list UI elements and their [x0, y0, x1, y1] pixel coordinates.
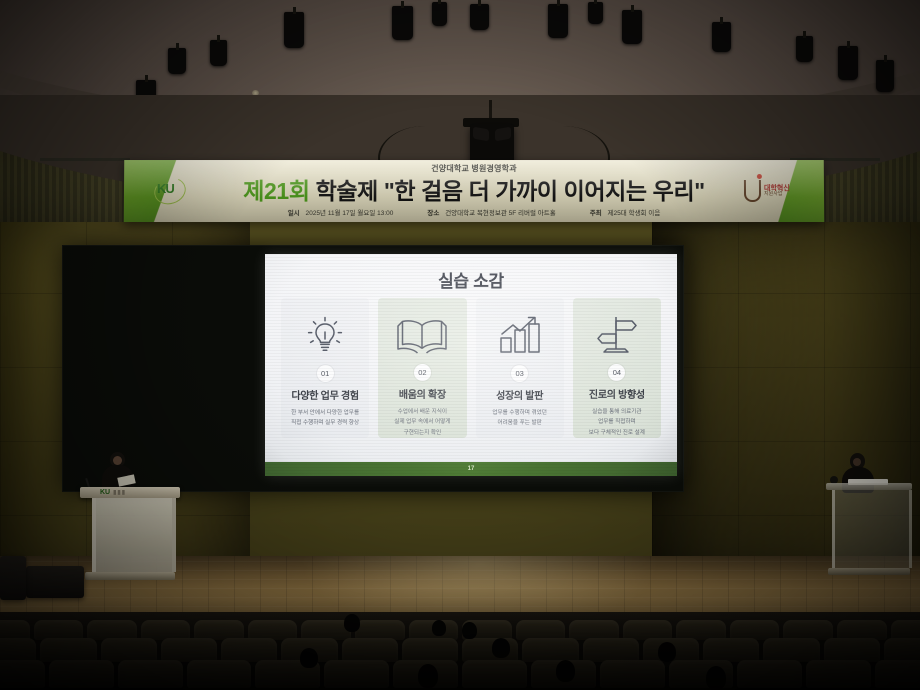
- card-heading: 배움의 확장: [399, 386, 446, 401]
- open-book-icon: [396, 306, 448, 363]
- audience-seating: [0, 612, 920, 690]
- card-heading: 성장의 발판: [496, 387, 543, 402]
- card-body: 수업에서 배운 지식이 실제 업무 속에서 어떻게 구현되는지 확인: [389, 407, 455, 438]
- card-body: 업무를 수행하며 겪었던 어려움을 푸는 발판: [487, 408, 552, 429]
- projection-screen: 실습 소감 01: [62, 245, 684, 492]
- floor-monitor-right: [0, 556, 26, 600]
- card-number: 04: [608, 364, 625, 381]
- card-body: 한 부서 안에서 다양한 업무를 직접 수행하며 실무 경력 향상: [286, 408, 364, 429]
- auditorium-scene: KU 건양대학교 병원경영학과 제21회 학술제 "한 걸음 더 가까이 이어지…: [0, 0, 920, 690]
- stage-light: [548, 4, 568, 38]
- stage-light: [838, 46, 858, 80]
- card-heading: 진로의 방향성: [589, 386, 645, 401]
- podium-top: KU▮▮▮: [80, 487, 180, 498]
- slide-footer: 17: [265, 462, 677, 476]
- card-number: 03: [511, 365, 528, 382]
- card-heading: 다양한 업무 경험: [291, 387, 358, 402]
- floor-monitor-left: [26, 566, 84, 598]
- slide-card: 03 성장의 발판 업무를 수행하며 겪었던 어려움을 푸는 발판: [476, 298, 564, 438]
- card-number: 01: [317, 365, 334, 382]
- stage-light: [432, 2, 447, 26]
- slide-card: 02 배움의 확장 수업에서 배운 지식이 실제 업무 속에서 어떻게 구현되는…: [378, 298, 466, 438]
- stage-light: [622, 10, 642, 44]
- podium-logo-sub: ▮▮▮: [113, 490, 126, 496]
- podium-top: [826, 483, 912, 490]
- person-face: [853, 458, 861, 466]
- podium-base: [828, 568, 910, 575]
- right-podium: [826, 483, 912, 583]
- slide-card: 04 진로의 방향성 실습을 통해 의료기관 업무를 직접하며 보다 구체적인 …: [573, 298, 661, 438]
- event-banner: KU 건양대학교 병원경영학과 제21회 학술제 "한 걸음 더 가까이 이어지…: [124, 160, 825, 222]
- banner-rope-left: [40, 158, 130, 161]
- signpost-icon: [594, 306, 640, 363]
- card-body: 실습을 통해 의료기관 업무를 직접하며 보다 구체적인 진로 설계: [584, 407, 650, 438]
- stage-light: [210, 40, 227, 66]
- card-number: 02: [414, 364, 431, 381]
- presentation-slide: 실습 소감 01: [265, 254, 677, 476]
- slide-page-number: 17: [468, 466, 475, 472]
- podium-body: [92, 498, 176, 572]
- slide-title: 실습 소감: [265, 267, 677, 292]
- slide-cards: 01 다양한 업무 경험 한 부서 안에서 다양한 업무를 직접 수행하며 실무…: [281, 298, 661, 438]
- podium-logo: KU▮▮▮: [100, 489, 126, 496]
- person-face: [113, 456, 122, 465]
- slide-card: 01 다양한 업무 경험 한 부서 안에서 다양한 업무를 직접 수행하며 실무…: [281, 298, 369, 438]
- growth-chart-icon: [496, 306, 544, 364]
- stage-light: [284, 12, 304, 48]
- lightbulb-icon: [303, 306, 347, 364]
- audience-shadow: [0, 612, 920, 690]
- left-podium: KU▮▮▮: [80, 487, 180, 582]
- stage-light: [470, 4, 489, 30]
- stage-light: [168, 48, 186, 74]
- podium-base: [85, 572, 175, 580]
- stage-light: [712, 22, 731, 52]
- stage-light: [588, 2, 603, 24]
- podium-logo-text: KU: [100, 489, 110, 496]
- stage-light: [796, 36, 813, 62]
- stage-light: [876, 60, 894, 92]
- podium-body: [832, 490, 912, 568]
- stage-light: [392, 6, 413, 40]
- banner-sheen: [124, 160, 825, 222]
